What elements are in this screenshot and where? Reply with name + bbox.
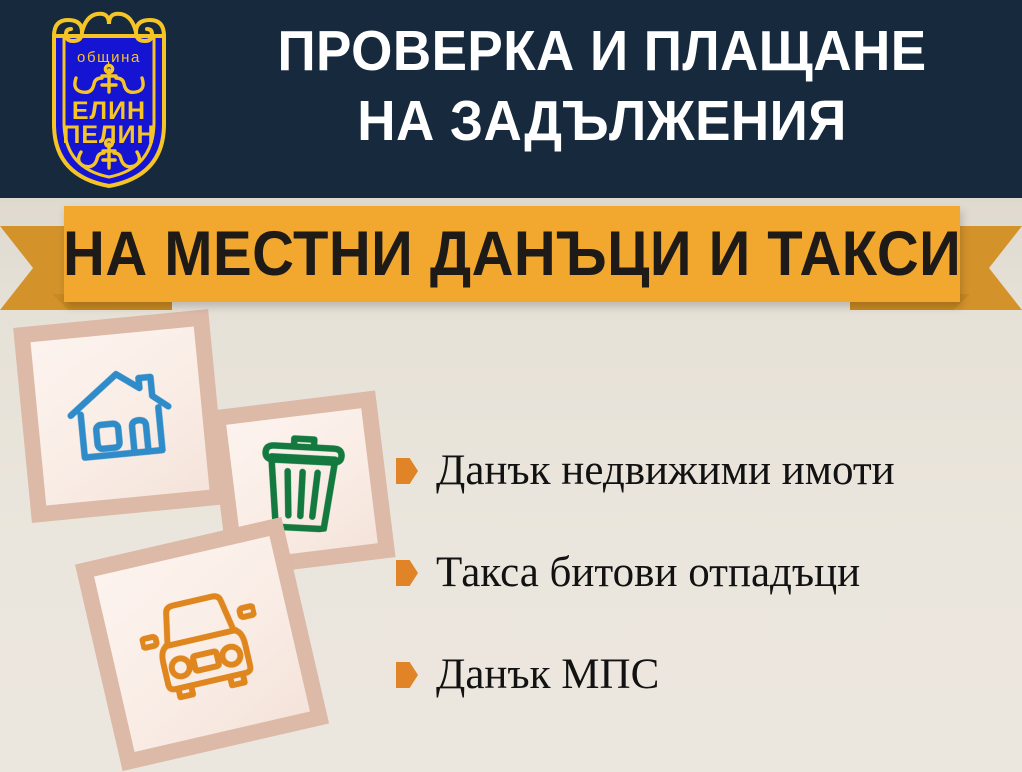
- list-item-label: Данък недвижими имоти: [436, 447, 895, 495]
- arrow-bullet-icon: [396, 662, 418, 688]
- list-item[interactable]: Такса битови отпадъци: [396, 522, 1006, 624]
- ribbon-label: НА МЕСТНИ ДАНЪЦИ И ТАКСИ: [63, 221, 961, 287]
- list-item[interactable]: Данък МПС: [396, 624, 1006, 726]
- poster-canvas: община ЕЛИН ПЕЛИН ПРОВЕРКА И ПЛАЩАНЕ НА …: [0, 0, 1022, 772]
- page-title-line-2: НА ЗАДЪЛЖЕНИЯ: [224, 86, 979, 156]
- list-item-label: Такса битови отпадъци: [436, 549, 860, 597]
- logo-name-line-2: ПЕЛИН: [62, 121, 155, 149]
- car-front-icon: [132, 580, 272, 708]
- list-item-label: Данък МПС: [436, 651, 659, 699]
- stamp-icon-slot: [31, 327, 210, 506]
- list-item[interactable]: Данък недвижими имоти: [396, 420, 1006, 522]
- page-title: ПРОВЕРКА И ПЛАЩАНЕ НА ЗАДЪЛЖЕНИЯ: [196, 16, 1008, 156]
- services-list: Данък недвижими имоти Такса битови отпад…: [396, 420, 1006, 726]
- page-title-line-1: ПРОВЕРКА И ПЛАЩАНЕ: [224, 16, 979, 86]
- municipality-logo: община ЕЛИН ПЕЛИН: [24, 6, 194, 192]
- stamp-house: [13, 309, 227, 523]
- arrow-bullet-icon: [396, 458, 418, 484]
- subtitle-ribbon: НА МЕСТНИ ДАНЪЦИ И ТАКСИ: [0, 198, 1022, 313]
- header-bar: община ЕЛИН ПЕЛИН ПРОВЕРКА И ПЛАЩАНЕ НА …: [0, 0, 1022, 198]
- coat-of-arms-icon: община ЕЛИН ПЕЛИН: [24, 6, 194, 192]
- house-icon: [61, 361, 178, 471]
- ribbon-banner: НА МЕСТНИ ДАНЪЦИ И ТАКСИ: [64, 206, 960, 302]
- arrow-bullet-icon: [396, 560, 418, 586]
- logo-top-label: община: [77, 49, 141, 66]
